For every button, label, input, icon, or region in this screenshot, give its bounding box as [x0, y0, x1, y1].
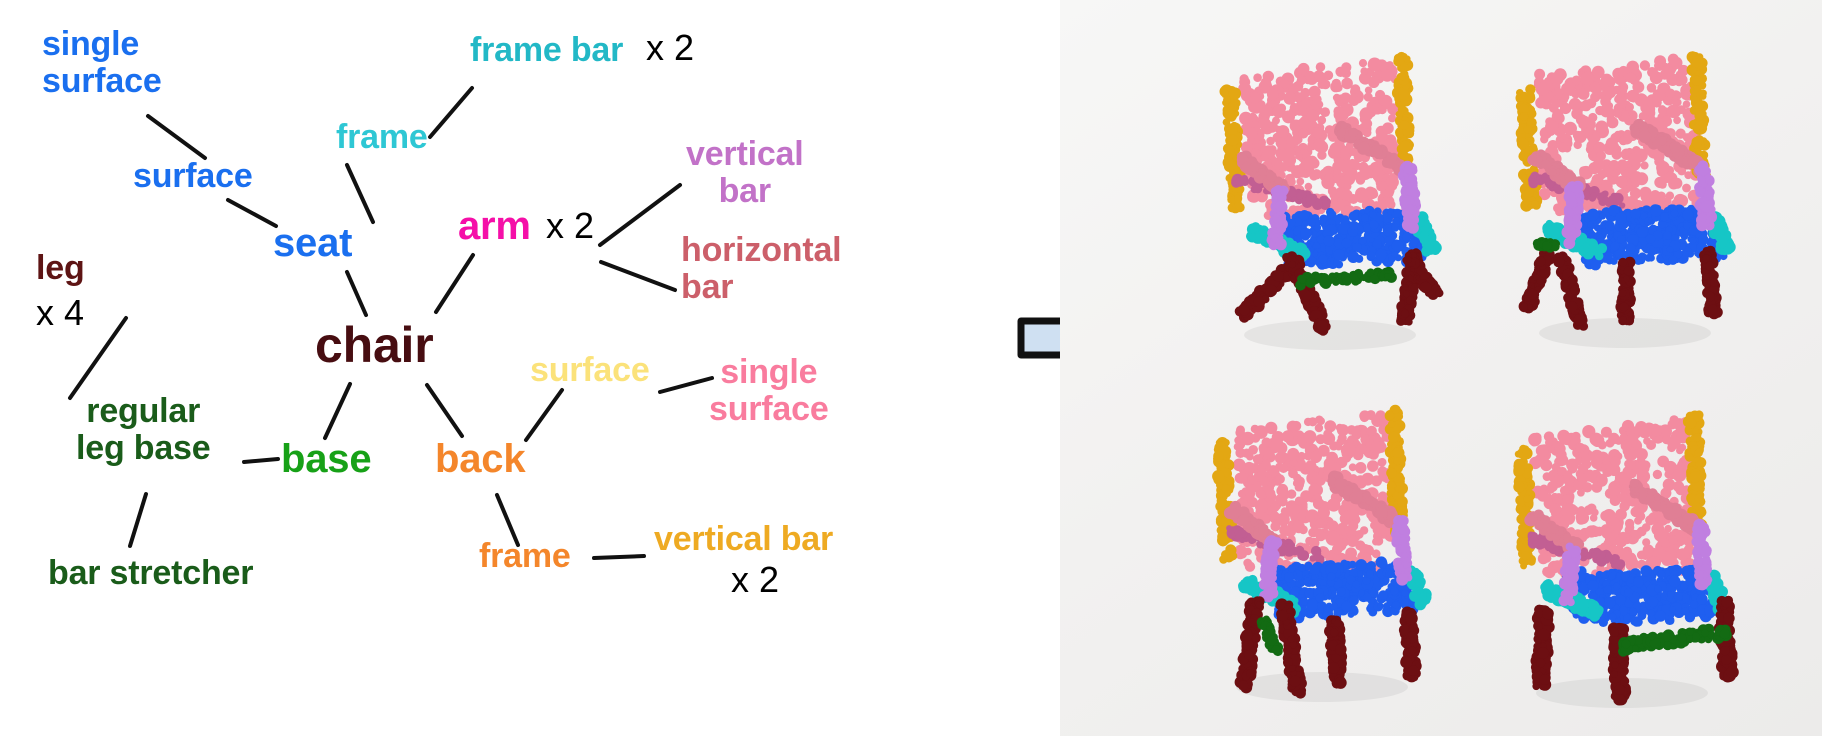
tree-node-single-surface-seat[interactable]: single surface: [42, 26, 162, 99]
edge-frame-seat-to-seat: [347, 165, 373, 222]
tree-node-horizontal-bar-arm[interactable]: horizontal bar: [681, 232, 841, 305]
edge-single-surface-seat-to-surface-seat: [148, 116, 205, 158]
tree-node-arm[interactable]: arm: [458, 205, 531, 248]
tree-node-chair[interactable]: chair: [315, 318, 434, 372]
tree-node-bar-stretcher[interactable]: bar stretcher: [48, 555, 253, 592]
edge-surface-seat-to-seat: [228, 200, 276, 226]
tree-multiplier-mult-arm: x 2: [546, 208, 594, 244]
chair-sample-3: [1172, 372, 1472, 717]
tree-node-frame-bar-seat[interactable]: frame bar: [470, 32, 623, 69]
edge-surface-back-to-single-surface-back: [660, 378, 712, 392]
chair-sample-2: [1475, 18, 1775, 363]
edge-regular-leg-base-to-base: [244, 459, 278, 462]
tree-node-frame-seat[interactable]: frame: [336, 119, 428, 156]
tree-node-frame-back[interactable]: frame: [479, 538, 571, 575]
edge-base-to-chair: [325, 384, 350, 438]
edge-arm-to-chair: [436, 255, 473, 312]
tree-node-vertical-bar-arm[interactable]: vertical bar: [686, 136, 803, 209]
tree-node-single-surface-back[interactable]: single surface: [709, 354, 829, 427]
edge-arm-to-vertical-bar-arm: [600, 185, 680, 245]
edge-regular-leg-base-to-bar-stretcher: [130, 494, 146, 546]
edge-frame-bar-seat-to-frame-seat: [430, 88, 472, 137]
tree-node-vertical-bar-back[interactable]: vertical bar: [654, 521, 833, 558]
part-hierarchy-panel: single surfaceframe barframesurfaceverti…: [0, 0, 1060, 736]
tree-node-surface-back[interactable]: surface: [530, 352, 650, 389]
chair-sample-1: [1180, 20, 1480, 365]
edge-chair-to-back: [427, 385, 462, 436]
tree-node-regular-leg-base[interactable]: regular leg base: [76, 393, 210, 466]
figure-root: single surfaceframe barframesurfaceverti…: [0, 0, 1822, 736]
tree-multiplier-mult-frame-bar: x 2: [646, 30, 694, 66]
tree-node-base[interactable]: base: [281, 438, 371, 481]
tree-node-back[interactable]: back: [435, 438, 525, 481]
edge-frame-back-to-vertical-bar-back: [594, 556, 644, 558]
tree-multiplier-mult-vertical-bar: x 2: [731, 562, 779, 598]
tree-node-surface-seat[interactable]: surface: [133, 158, 253, 195]
edge-seat-to-chair: [347, 272, 366, 315]
tree-multiplier-mult-leg: x 4: [36, 295, 84, 331]
chair-sample-4: [1472, 378, 1772, 723]
generated-chair-samples-panel: [1060, 0, 1822, 736]
tree-node-seat[interactable]: seat: [273, 222, 352, 265]
edge-arm-to-horizontal-bar-arm: [601, 262, 675, 290]
tree-node-leg[interactable]: leg: [36, 250, 85, 287]
edge-back-to-surface-back: [526, 390, 562, 440]
